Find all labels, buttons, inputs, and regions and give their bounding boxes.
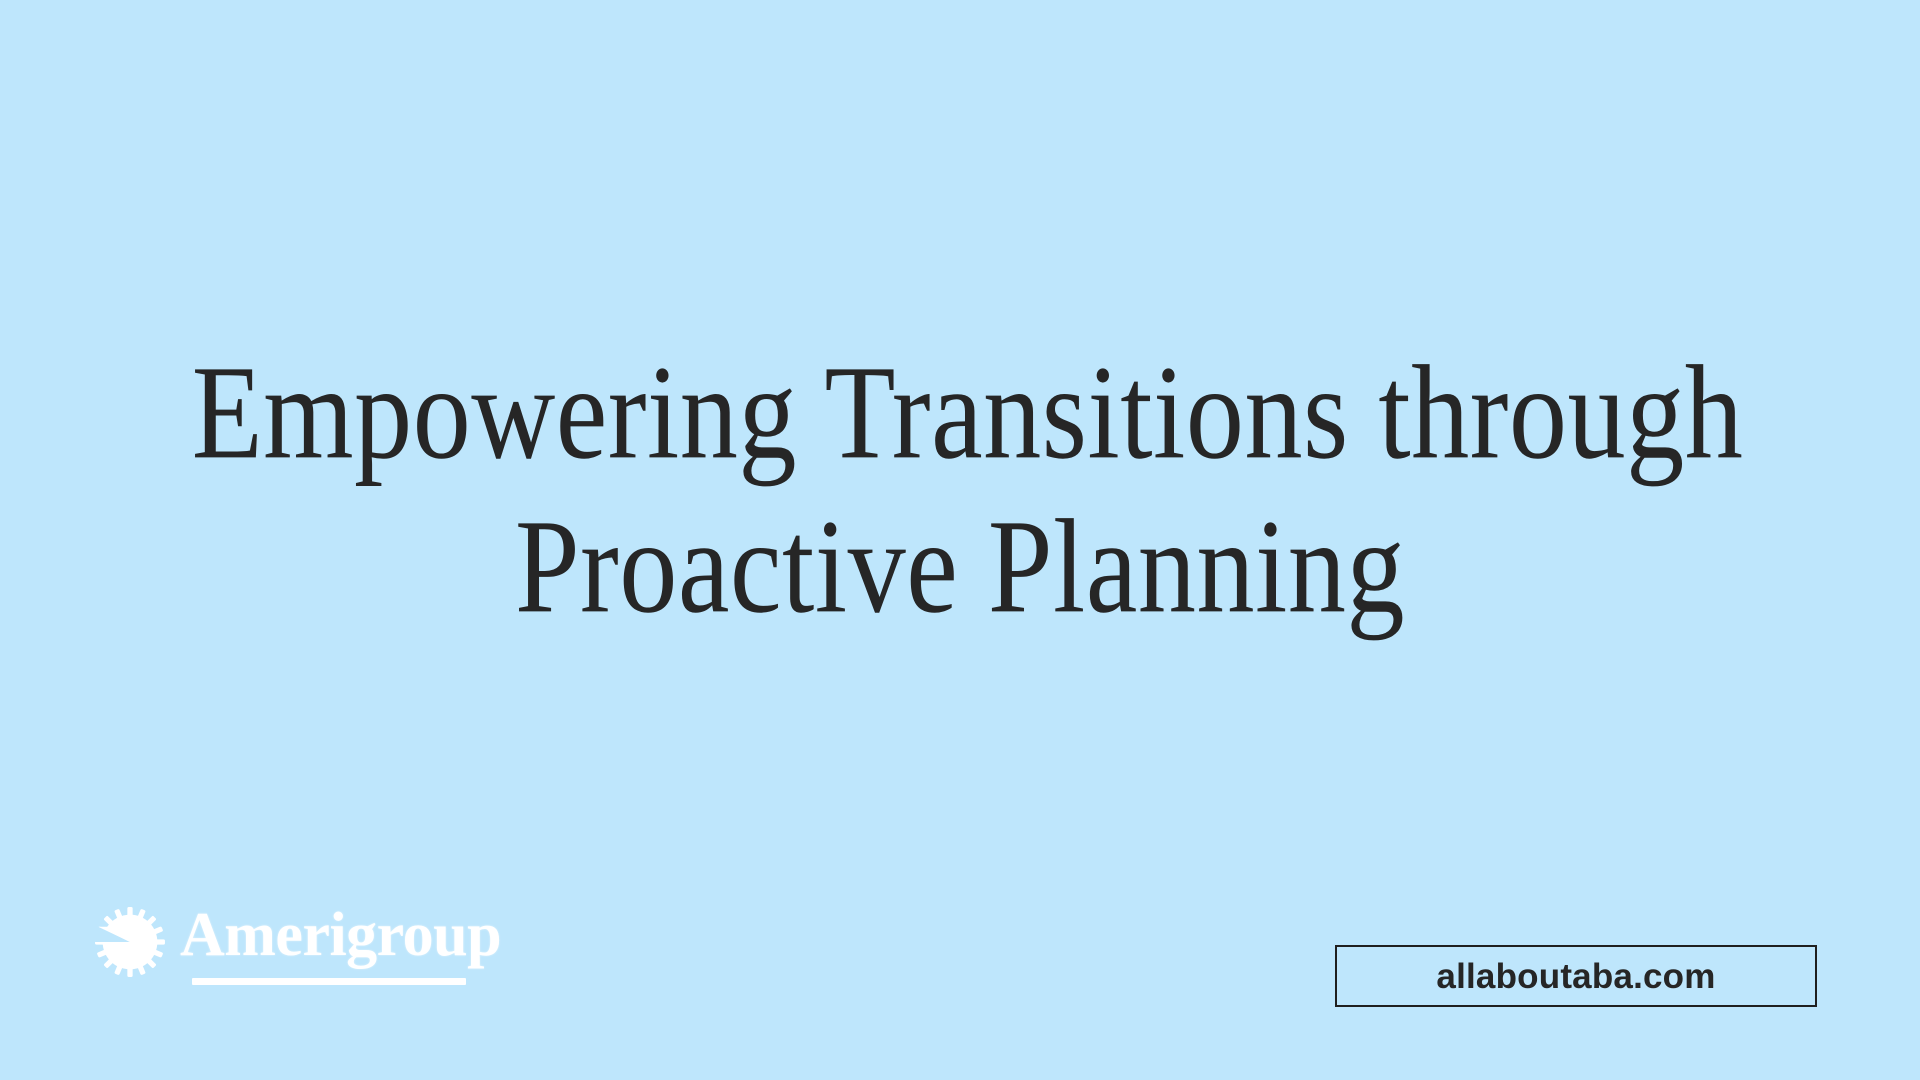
page-title-line-1: Empowering Transitions through: [192, 332, 1729, 494]
amerigroup-logo: Amerigroup: [92, 898, 492, 1008]
amerigroup-wordmark: Amerigroup: [180, 898, 501, 972]
website-url-text: allaboutaba.com: [1436, 959, 1715, 994]
amerigroup-sunburst-icon: [92, 904, 168, 980]
logo-underline-rule: [192, 978, 466, 985]
page-title: Empowering Transitions through Proactive…: [0, 332, 1920, 628]
page-title-line-2: Proactive Planning: [192, 486, 1729, 648]
website-url-badge[interactable]: allaboutaba.com: [1335, 945, 1817, 1007]
slide-canvas: Empowering Transitions through Proactive…: [0, 0, 1920, 1080]
